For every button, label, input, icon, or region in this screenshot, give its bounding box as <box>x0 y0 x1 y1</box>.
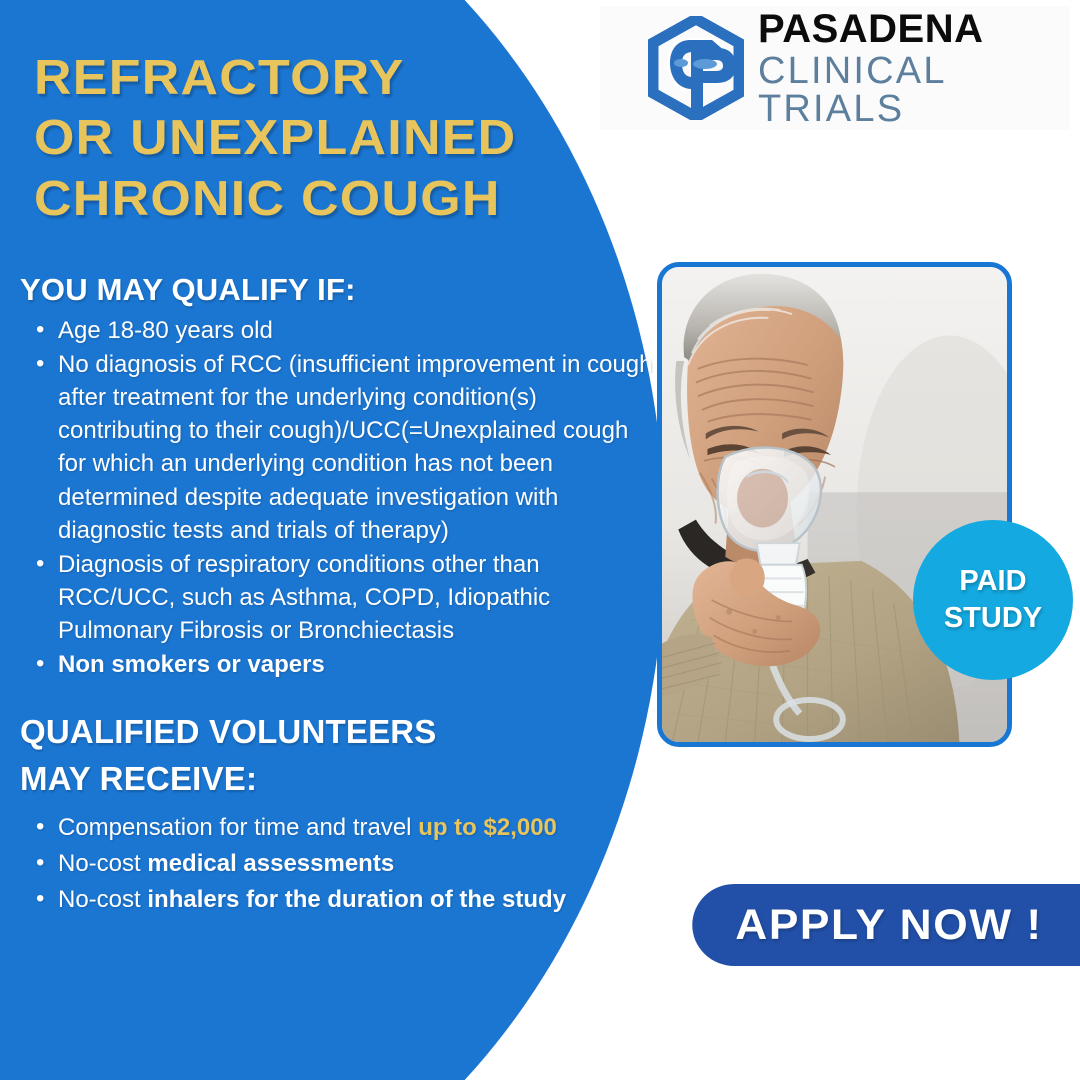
apply-now-button[interactable]: APPLY NOW ! <box>692 884 1080 966</box>
receive-bullet-3-emphasis: inhalers for the duration of the study <box>147 886 566 913</box>
content-column: YOU MAY QUALIFY IF: Age 18-80 years old … <box>20 272 660 919</box>
receive-bullet-3-text: No-cost <box>58 886 147 913</box>
receive-bullet-1-text: Compensation for time and travel <box>58 814 418 841</box>
receive-heading: QUALIFIED VOLUNTEERS MAY RECEIVE: <box>20 709 660 803</box>
receive-heading-line-1: QUALIFIED VOLUNTEERS <box>20 713 437 750</box>
poster-canvas: PASADENA CLINICAL TRIALS REFRACTORY OR U… <box>0 0 1080 1080</box>
headline-line-3: CHRONIC COUGH <box>34 169 628 229</box>
qualify-bullet-1: Age 18-80 years old <box>58 317 273 344</box>
brand-name-secondary: CLINICAL TRIALS <box>758 52 1070 128</box>
list-item: Diagnosis of respiratory conditions othe… <box>20 548 660 647</box>
badge-line-1: PAID <box>959 563 1026 600</box>
qualify-heading: YOU MAY QUALIFY IF: <box>20 272 660 308</box>
badge-line-2: STUDY <box>944 600 1042 637</box>
patient-photo <box>657 262 1012 747</box>
brand-name-primary: PASADENA <box>758 9 1070 49</box>
receive-heading-line-2: MAY RECEIVE: <box>20 760 257 797</box>
page-title: REFRACTORY OR UNEXPLAINED CHRONIC COUGH <box>34 48 628 229</box>
brand-logo: PASADENA CLINICAL TRIALS <box>600 6 1070 130</box>
list-item: No-cost inhalers for the duration of the… <box>20 883 660 916</box>
receive-section: QUALIFIED VOLUNTEERS MAY RECEIVE: Compen… <box>20 709 660 916</box>
list-item: Age 18-80 years old <box>20 314 660 347</box>
pasadena-cp-hexagon-logo-icon <box>648 16 744 120</box>
status-badge: PAID STUDY <box>913 520 1073 680</box>
qualify-bullet-list: Age 18-80 years old No diagnosis of RCC … <box>20 314 660 681</box>
list-item: Compensation for time and travel up to $… <box>20 811 660 844</box>
qualify-bullet-3: Diagnosis of respiratory conditions othe… <box>58 551 550 644</box>
receive-bullet-2-emphasis: medical assessments <box>147 850 394 877</box>
qualify-section: YOU MAY QUALIFY IF: Age 18-80 years old … <box>20 272 660 681</box>
headline-line-1: REFRACTORY <box>34 48 628 108</box>
list-item: No-cost medical assessments <box>20 847 660 880</box>
list-item: Non smokers or vapers <box>20 648 660 681</box>
headline-line-2: OR UNEXPLAINED <box>34 108 628 168</box>
list-item: No diagnosis of RCC (insufficient improv… <box>20 348 660 547</box>
receive-bullet-2-text: No-cost <box>58 850 147 877</box>
receive-bullet-list: Compensation for time and travel up to $… <box>20 811 660 916</box>
qualify-bullet-4: Non smokers or vapers <box>58 651 325 678</box>
qualify-bullet-2: No diagnosis of RCC (insufficient improv… <box>58 351 653 544</box>
receive-bullet-1-amount: up to $2,000 <box>418 814 557 841</box>
